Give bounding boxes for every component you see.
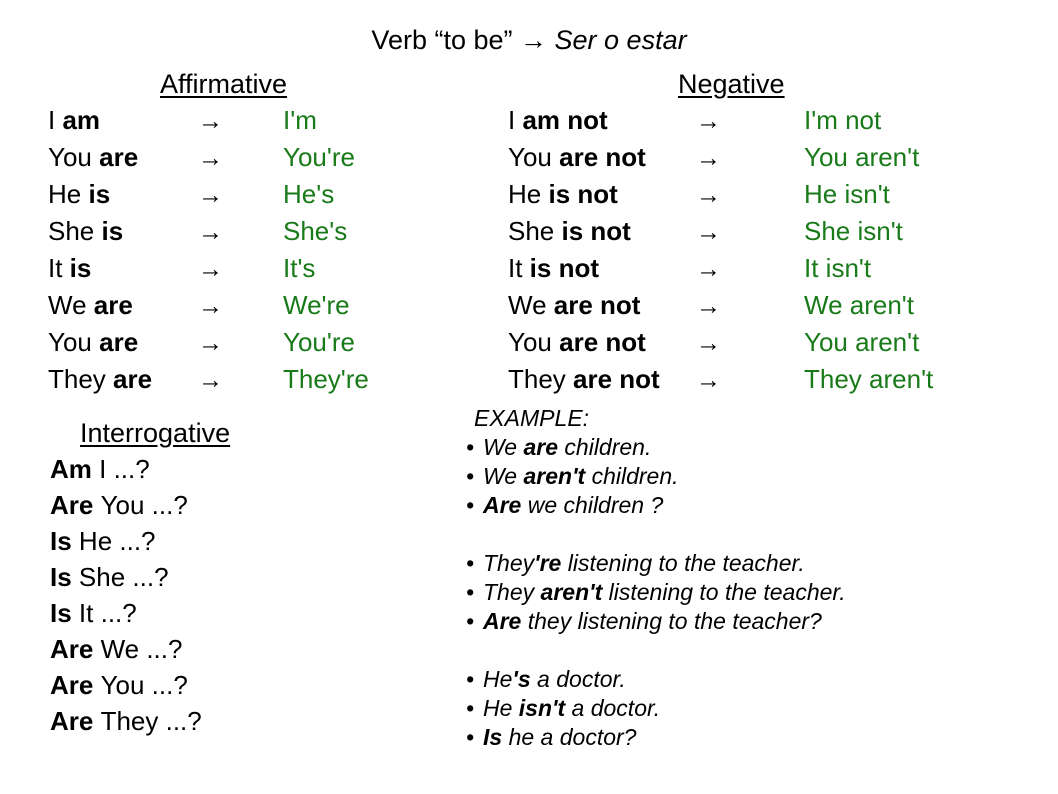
verb: are not <box>559 142 646 172</box>
conjugation-phrase: I am not <box>508 102 696 139</box>
arrow-icon: → <box>696 213 804 250</box>
sentence-highlight: Are <box>483 492 521 518</box>
conjugation-phrase: You are not <box>508 324 696 361</box>
contraction: We aren't <box>804 287 933 324</box>
contraction: It isn't <box>804 250 933 287</box>
table-row: She is→She's <box>48 213 369 250</box>
example-sentence: •Are they listening to the teacher? <box>466 607 846 636</box>
question-subject: She ...? <box>79 562 169 592</box>
conjugation-phrase: You are not <box>508 139 696 176</box>
contraction: I'm not <box>804 102 933 139</box>
conjugation-phrase: We are not <box>508 287 696 324</box>
contraction: She isn't <box>804 213 933 250</box>
bullet-icon: • <box>466 433 483 462</box>
arrow-icon: → <box>696 361 804 398</box>
sentence-suffix: children. <box>585 463 678 489</box>
example-group-gap <box>466 520 846 549</box>
pronoun: She <box>508 216 562 246</box>
bullet-icon: • <box>466 462 483 491</box>
pronoun: You <box>48 327 99 357</box>
sentence-prefix: He <box>483 666 512 692</box>
pronoun: They <box>48 364 113 394</box>
arrow-icon: → <box>198 324 283 361</box>
example-sentence: •Are we children ? <box>466 491 846 520</box>
pronoun: You <box>508 142 559 172</box>
arrow-icon: → <box>696 102 804 139</box>
table-row: He is→He's <box>48 176 369 213</box>
contraction: We're <box>283 287 369 324</box>
table-affirmative-body: I am→I'mYou are→You'reHe is→He'sShe is→S… <box>48 102 369 398</box>
list-item: Is She ...? <box>50 559 202 595</box>
sentence-highlight: are <box>523 434 558 460</box>
question-subject: You ...? <box>101 670 188 700</box>
conjugation-phrase: They are not <box>508 361 696 398</box>
bullet-icon: • <box>466 723 483 752</box>
sentence-suffix: they listening to the teacher? <box>521 608 821 634</box>
pronoun: She <box>48 216 102 246</box>
verb: am <box>62 105 100 135</box>
list-item: Am I ...? <box>50 451 202 487</box>
conjugation-phrase: You are <box>48 139 198 176</box>
arrow-icon: → <box>198 287 283 324</box>
contraction: You aren't <box>804 324 933 361</box>
sentence-suffix: a doctor. <box>531 666 626 692</box>
question-verb: Are <box>50 490 101 520</box>
sentence-highlight: 're <box>534 550 561 576</box>
table-row: You are→You're <box>48 324 369 361</box>
bullet-icon: • <box>466 491 483 520</box>
arrow-icon: → <box>696 287 804 324</box>
page-title-english: Verb “to be” → <box>371 25 554 55</box>
contraction: He's <box>283 176 369 213</box>
pronoun: We <box>508 290 554 320</box>
heading-affirmative: Affirmative <box>160 68 287 100</box>
list-item: Is It ...? <box>50 595 202 631</box>
arrow-icon: → <box>696 324 804 361</box>
question-verb: Is <box>50 598 79 628</box>
table-row: You are→You're <box>48 139 369 176</box>
contraction: They're <box>283 361 369 398</box>
list-item: Are They ...? <box>50 703 202 739</box>
question-verb: Am <box>50 454 99 484</box>
sentence-highlight: aren't <box>523 463 585 489</box>
table-row: I am→I'm <box>48 102 369 139</box>
example-sentence: •They aren't listening to the teacher. <box>466 578 846 607</box>
contraction: She's <box>283 213 369 250</box>
conjugation-phrase: She is not <box>508 213 696 250</box>
question-subject: They ...? <box>101 706 202 736</box>
bullet-icon: • <box>466 665 483 694</box>
example-group: •They're listening to the teacher.•They … <box>466 549 846 636</box>
table-negative: I am not→I'm notYou are not→You aren'tHe… <box>508 102 933 398</box>
verb: is not <box>562 216 631 246</box>
contraction: They aren't <box>804 361 933 398</box>
example-sentence: •Is he a doctor? <box>466 723 846 752</box>
sentence-prefix: They <box>483 550 534 576</box>
question-subject: It ...? <box>79 598 137 628</box>
verb: are <box>99 142 138 172</box>
pronoun: They <box>508 364 573 394</box>
conjugation-phrase: She is <box>48 213 198 250</box>
verb: are not <box>554 290 641 320</box>
question-subject: He ...? <box>79 526 156 556</box>
pronoun: It <box>508 253 530 283</box>
sentence-suffix: a doctor. <box>565 695 660 721</box>
arrow-icon: → <box>696 139 804 176</box>
arrow-icon: → <box>198 213 283 250</box>
sentence-highlight: Are <box>483 608 521 634</box>
conjugation-phrase: It is <box>48 250 198 287</box>
pronoun: You <box>48 142 99 172</box>
heading-negative: Negative <box>678 68 785 100</box>
list-item: Are We ...? <box>50 631 202 667</box>
question-verb: Are <box>50 706 101 736</box>
verb: am not <box>522 105 607 135</box>
verb: is <box>88 179 110 209</box>
verb: are <box>113 364 152 394</box>
arrow-icon: → <box>198 139 283 176</box>
example-sentence: •We are children. <box>466 433 846 462</box>
contraction: He isn't <box>804 176 933 213</box>
verb: are <box>94 290 133 320</box>
table-row: I am not→I'm not <box>508 102 933 139</box>
table-row: They are→They're <box>48 361 369 398</box>
verb: are not <box>559 327 646 357</box>
question-subject: You ...? <box>101 490 188 520</box>
conjugation-phrase: We are <box>48 287 198 324</box>
verb: are <box>99 327 138 357</box>
table-row: It is not→It isn't <box>508 250 933 287</box>
pronoun: He <box>48 179 88 209</box>
conjugation-phrase: I am <box>48 102 198 139</box>
example-sentence: •They're listening to the teacher. <box>466 549 846 578</box>
table-row: They are not→They aren't <box>508 361 933 398</box>
sentence-highlight: isn't <box>519 695 565 721</box>
table-negative-body: I am not→I'm notYou are not→You aren'tHe… <box>508 102 933 398</box>
table-row: It is→It's <box>48 250 369 287</box>
example-label: EXAMPLE: <box>466 404 846 433</box>
verb: is <box>70 253 92 283</box>
sentence-suffix: listening to the teacher. <box>561 550 804 576</box>
arrow-icon: → <box>198 250 283 287</box>
bullet-icon: • <box>466 607 483 636</box>
contraction: You're <box>283 139 369 176</box>
sentence-suffix: listening to the teacher. <box>602 579 845 605</box>
pronoun: We <box>48 290 94 320</box>
pronoun: I <box>48 105 62 135</box>
bullet-icon: • <box>466 549 483 578</box>
example-groups: •We are children.•We aren't children.•Ar… <box>466 433 846 752</box>
table-row: You are not→You aren't <box>508 139 933 176</box>
sentence-highlight: Is <box>483 724 502 750</box>
contraction: You're <box>283 324 369 361</box>
example-block: EXAMPLE: •We are children.•We aren't chi… <box>466 404 846 752</box>
bullet-icon: • <box>466 578 483 607</box>
question-verb: Are <box>50 634 101 664</box>
question-verb: Is <box>50 562 79 592</box>
question-subject: I ...? <box>99 454 150 484</box>
example-sentence: •He isn't a doctor. <box>466 694 846 723</box>
table-affirmative: I am→I'mYou are→You'reHe is→He'sShe is→S… <box>48 102 369 398</box>
page-title-spanish: Ser o estar <box>555 25 687 55</box>
example-group: •We are children.•We aren't children.•Ar… <box>466 433 846 520</box>
sentence-prefix: They <box>483 579 541 605</box>
conjugation-phrase: He is <box>48 176 198 213</box>
conjugation-phrase: They are <box>48 361 198 398</box>
example-group-gap <box>466 636 846 665</box>
sentence-highlight: 's <box>512 666 530 692</box>
sentence-suffix: we children ? <box>521 492 663 518</box>
example-sentence: •We aren't children. <box>466 462 846 491</box>
pronoun: You <box>508 327 559 357</box>
question-verb: Is <box>50 526 79 556</box>
arrow-icon: → <box>198 361 283 398</box>
sentence-suffix: children. <box>558 434 651 460</box>
conjugation-phrase: It is not <box>508 250 696 287</box>
table-row: We are not→We aren't <box>508 287 933 324</box>
verb: are not <box>573 364 660 394</box>
sentence-highlight: aren't <box>541 579 603 605</box>
table-row: He is not→He isn't <box>508 176 933 213</box>
sentence-prefix: We <box>483 434 523 460</box>
sentence-prefix: We <box>483 463 523 489</box>
list-item: Are You ...? <box>50 667 202 703</box>
pronoun: I <box>508 105 522 135</box>
question-subject: We ...? <box>101 634 183 664</box>
contraction: It's <box>283 250 369 287</box>
sentence-prefix: He <box>483 695 519 721</box>
list-interrogative: Am I ...?Are You ...?Is He ...?Is She ..… <box>50 451 202 739</box>
arrow-icon: → <box>198 102 283 139</box>
arrow-icon: → <box>198 176 283 213</box>
list-item: Are You ...? <box>50 487 202 523</box>
question-verb: Are <box>50 670 101 700</box>
pronoun: It <box>48 253 70 283</box>
pronoun: He <box>508 179 548 209</box>
example-sentence: •He's a doctor. <box>466 665 846 694</box>
bullet-icon: • <box>466 694 483 723</box>
verb: is <box>102 216 124 246</box>
conjugation-phrase: He is not <box>508 176 696 213</box>
sentence-suffix: he a doctor? <box>502 724 636 750</box>
table-row: We are→We're <box>48 287 369 324</box>
contraction: I'm <box>283 102 369 139</box>
table-row: You are not→You aren't <box>508 324 933 361</box>
conjugation-phrase: You are <box>48 324 198 361</box>
verb: is not <box>548 179 617 209</box>
contraction: You aren't <box>804 139 933 176</box>
verb: is not <box>530 253 599 283</box>
arrow-icon: → <box>696 176 804 213</box>
table-row: She is not→She isn't <box>508 213 933 250</box>
heading-interrogative: Interrogative <box>80 417 230 449</box>
page-title: Verb “to be” → Ser o estar <box>0 24 1058 56</box>
arrow-icon: → <box>696 250 804 287</box>
example-group: •He's a doctor.•He isn't a doctor.•Is he… <box>466 665 846 752</box>
list-item: Is He ...? <box>50 523 202 559</box>
